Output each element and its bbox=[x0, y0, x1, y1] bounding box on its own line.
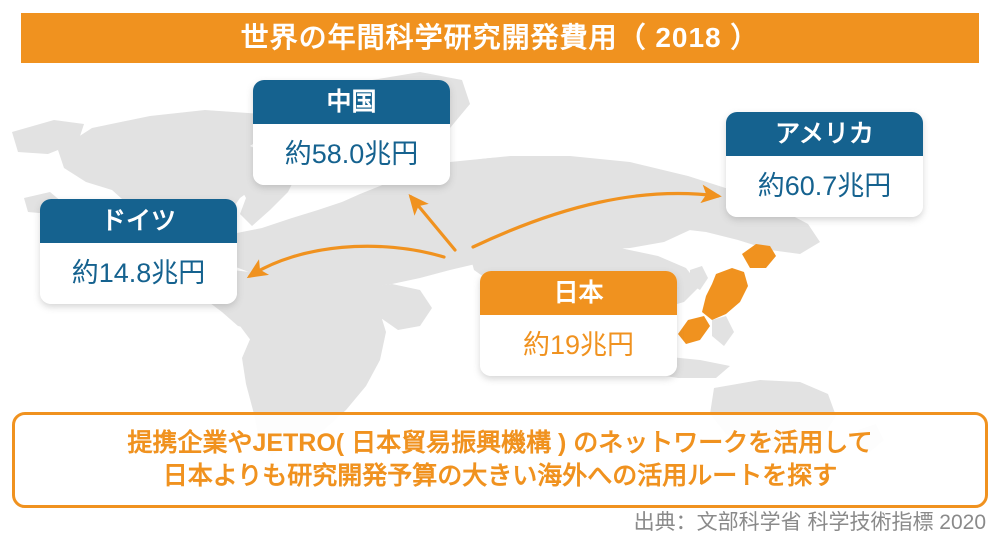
country-value-japan: 約19兆円 bbox=[480, 315, 677, 376]
country-card-japan: 日本 約19兆円 bbox=[480, 271, 677, 376]
country-card-china: 中国 約58.0兆円 bbox=[253, 80, 450, 185]
country-label-germany: ドイツ bbox=[40, 199, 237, 243]
callout-box: 提携企業やJETRO( 日本貿易振興機構 ) のネットワークを活用して 日本より… bbox=[12, 412, 988, 508]
japan-hokkaido bbox=[742, 244, 776, 268]
callout-line-2: 日本よりも研究開発予算の大きい海外への活用ルートを探す bbox=[163, 460, 838, 493]
country-card-germany: ドイツ 約14.8兆円 bbox=[40, 199, 237, 304]
country-label-japan: 日本 bbox=[480, 271, 677, 315]
title-banner: 世界の年間科学研究開発費用（ 2018 ） bbox=[21, 13, 979, 63]
japan-shikoku-kyushu bbox=[678, 316, 710, 344]
country-card-usa: アメリカ 約60.7兆円 bbox=[726, 112, 923, 217]
page-title: 世界の年間科学研究開発費用（ 2018 ） bbox=[241, 24, 760, 52]
callout-line-1: 提携企業やJETRO( 日本貿易振興機構 ) のネットワークを活用して bbox=[127, 427, 872, 460]
source-attribution: 出典：文部科学省 科学技術指標 2020 bbox=[634, 512, 986, 533]
country-value-china: 約58.0兆円 bbox=[253, 124, 450, 185]
infographic-canvas: 世界の年間科学研究開発費用（ 2018 ） 中国 約58.0兆円 アメリカ 約6… bbox=[0, 0, 1000, 550]
country-label-usa: アメリカ bbox=[726, 112, 923, 156]
country-value-usa: 約60.7兆円 bbox=[726, 156, 923, 217]
philippines bbox=[712, 316, 734, 346]
country-label-china: 中国 bbox=[253, 80, 450, 124]
country-value-germany: 約14.8兆円 bbox=[40, 243, 237, 304]
japan-honshu bbox=[702, 268, 748, 320]
